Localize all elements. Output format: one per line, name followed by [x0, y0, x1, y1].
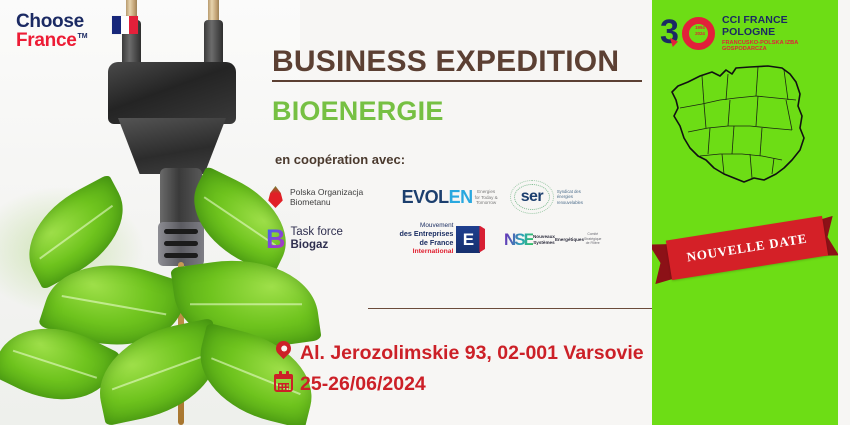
nse-line3: Comité Stratégique de Filière: [584, 232, 601, 245]
organizer-panel: 3 1994 2024 CCI FRANCE POLOGNE FRANCUSKO…: [652, 0, 838, 425]
partner-logos: Polska Organizacja Biometanu EVOLEN Ener…: [266, 176, 596, 260]
plug-taper: [118, 118, 226, 174]
ribbon-label: NOUVELLE DATE: [686, 231, 809, 266]
flame-icon: [266, 186, 285, 208]
plug-grip: [158, 222, 204, 266]
organizer-subtitle: FRANCUSKO-POLSKA IZBA GOSPODARCZA: [722, 40, 838, 52]
nse-line1: Nouveaux Systèmes: [533, 234, 555, 246]
event-address-row: Al. Jerozolimskie 93, 02-001 Varsovie: [272, 340, 644, 366]
choose-france-logo: Choose France TM: [16, 12, 88, 51]
nse-line2: Energétiques: [555, 237, 584, 243]
medef-line4: International: [399, 248, 453, 256]
partner-name-line1: Polska Organizacja: [290, 187, 363, 197]
medef-e-icon: E: [456, 226, 480, 253]
partner-name-line2: Biometanu: [290, 197, 363, 207]
trademark-symbol: TM: [78, 33, 88, 40]
partner-logo-medef-international: Mouvement des Entreprises de France Inte…: [399, 222, 498, 256]
event-address: Al. Jerozolimskie 93, 02-001 Varsovie: [300, 342, 644, 365]
plug-body: [108, 62, 236, 124]
evolen-tagline-2: for Today & Tomorrow: [473, 195, 500, 206]
partner-logo-ser: ser Syndicat des énergies renouvelables: [506, 179, 596, 215]
event-banner: Choose France TM BUSINESS EXPEDITION BIO…: [0, 0, 850, 425]
location-pin-icon: [272, 340, 294, 366]
event-details: Al. Jerozolimskie 93, 02-001 Varsovie 25…: [272, 340, 644, 402]
nouvelle-date-ribbon: NOUVELLE DATE: [652, 210, 838, 300]
choose-france-word-choose: Choose: [16, 12, 88, 31]
organizer-title: CCI FRANCE POLOGNE: [722, 14, 838, 38]
section-divider: [368, 308, 652, 309]
page-title: BUSINESS EXPEDITION: [272, 45, 619, 79]
ser-word: ser: [521, 188, 543, 206]
event-date-row: 25-26/06/2024: [272, 371, 644, 397]
anniversary-30-icon: 3 1994 2024: [660, 14, 720, 52]
page-subtitle: BIOENERGIE: [272, 96, 444, 127]
evolen-word-b: EN: [449, 187, 473, 207]
partner-logo-task-force-biogaz: B Task force Biogaz: [266, 226, 393, 253]
calendar-icon: [272, 371, 294, 397]
ser-emblem-icon: ser: [509, 179, 555, 215]
ser-tagline: Syndicat des énergies renouvelables: [557, 189, 593, 205]
cooperation-label: en coopération avec:: [275, 152, 405, 167]
medef-mark-letter: E: [463, 231, 474, 248]
partner-row-1: Polska Organizacja Biometanu EVOLEN Ener…: [266, 176, 596, 218]
anniversary-years: 1994 2024: [690, 25, 710, 36]
choose-france-word-france: France: [16, 31, 77, 50]
biogaz-b-icon: B: [266, 226, 286, 253]
partner-row-2: B Task force Biogaz Mouvement des Entrep…: [266, 218, 596, 260]
event-dates: 25-26/06/2024: [300, 373, 426, 396]
cci-france-pologne-logo: 3 1994 2024 CCI FRANCE POLOGNE FRANCUSKO…: [660, 14, 838, 52]
task-force-line2: Biogaz: [291, 239, 329, 251]
plug-plant-photo: [0, 0, 300, 425]
main-content: BUSINESS EXPEDITION BIOENERGIE en coopér…: [260, 0, 652, 425]
poland-map: [658, 56, 832, 206]
title-underline: [272, 80, 642, 82]
medef-line3: de France: [399, 239, 453, 248]
partner-logo-polska-organizacja-biometanu: Polska Organizacja Biometanu: [266, 186, 396, 208]
nse-monogram-icon: NSE: [504, 231, 533, 248]
french-flag-icon: [112, 16, 138, 34]
partner-logo-evolen: EVOLEN Energies for Today & Tomorrow: [402, 187, 500, 208]
evolen-word-a: EVOL: [402, 187, 449, 207]
partner-logo-nse: NSE Nouveaux Systèmes Energétiques Comit…: [504, 231, 596, 248]
task-force-line1: Task force: [291, 226, 343, 239]
